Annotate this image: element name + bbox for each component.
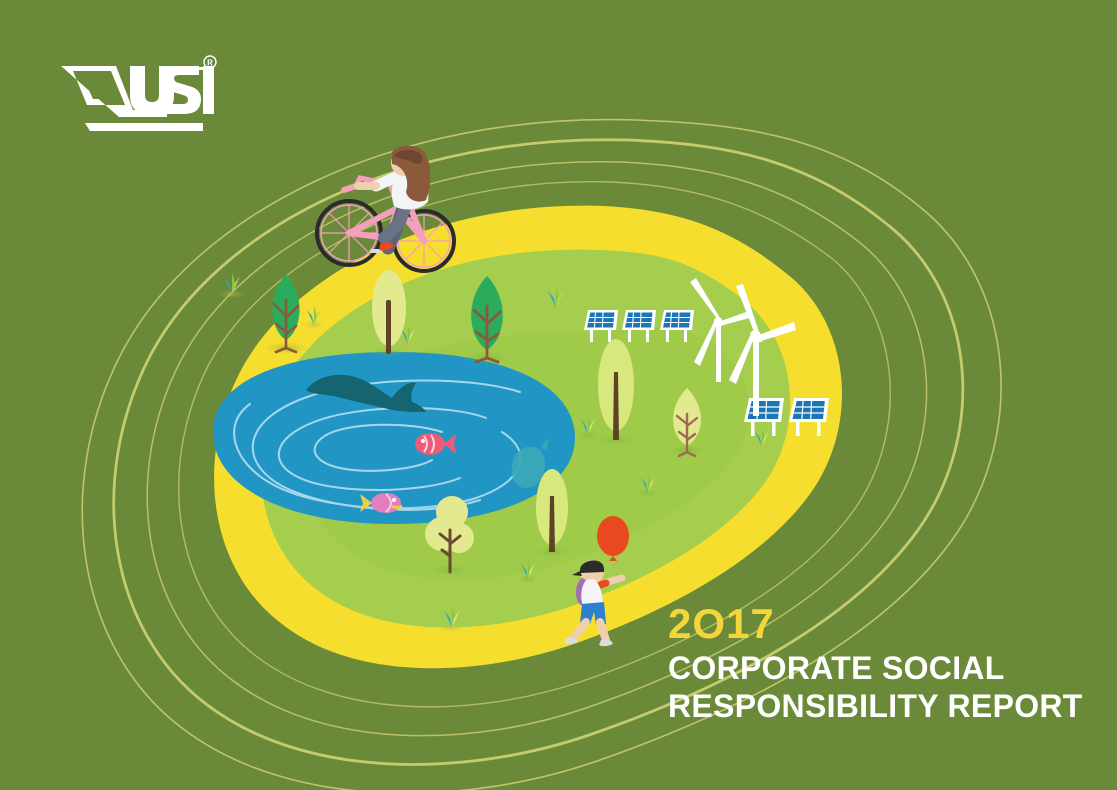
report-year: 2O17 xyxy=(668,603,1098,645)
usi-logo-wordmark xyxy=(130,66,214,115)
report-title-line-2: RESPONSIBILITY REPORT xyxy=(668,688,1098,726)
usi-logo: R xyxy=(57,53,217,135)
cover-title-block: 2O17 CORPORATE SOCIAL RESPONSIBILITY REP… xyxy=(668,603,1098,726)
balloon xyxy=(597,516,629,556)
svg-text:R: R xyxy=(207,59,213,68)
report-title-line-1: CORPORATE SOCIAL xyxy=(668,650,1098,688)
registered-trademark-icon: R xyxy=(204,56,216,68)
report-cover-page: R 2O17 CORPORATE SOCIAL RESPONSIBILITY R… xyxy=(0,0,1117,790)
